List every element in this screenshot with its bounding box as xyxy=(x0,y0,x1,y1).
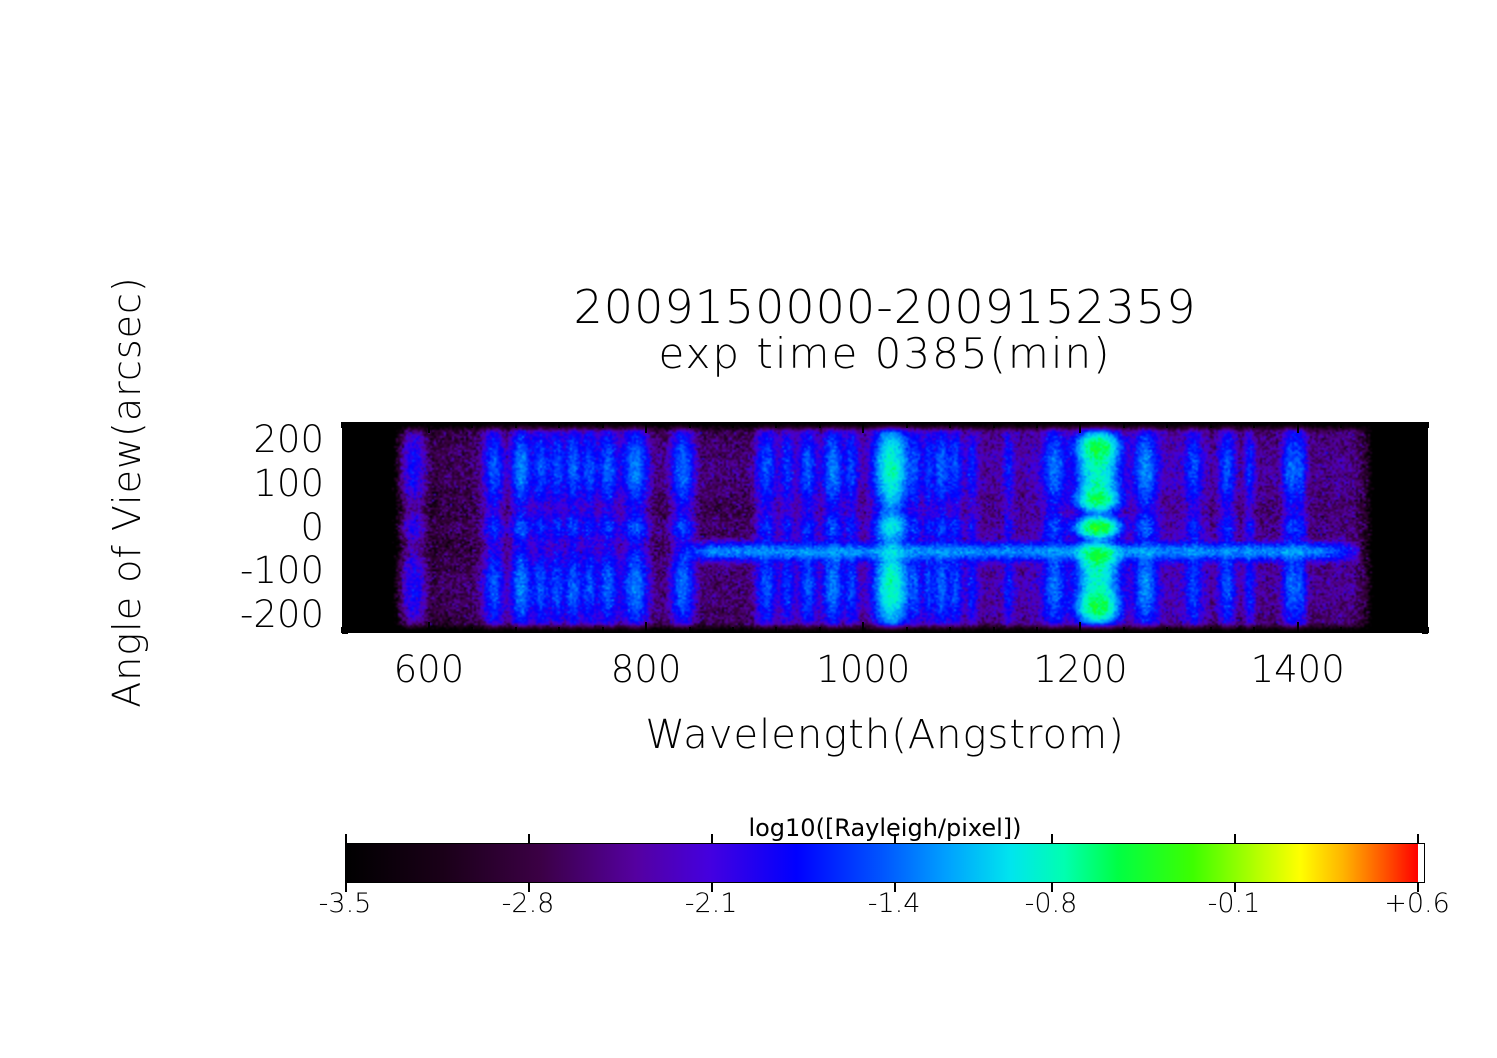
colorbar-tick-top xyxy=(711,834,713,843)
colorbar-tick-top xyxy=(1051,834,1053,843)
colorbar-tick-label: -1.4 xyxy=(824,888,964,919)
x-tick-label: 1200 xyxy=(990,651,1170,688)
y-tick-label: 200 xyxy=(194,421,324,458)
figure-root: 2009150000-2009152359 exp time 0385(min)… xyxy=(0,0,1497,1058)
x-tick-label: 600 xyxy=(339,651,519,688)
colorbar-tick-top xyxy=(1234,834,1236,843)
spectrogram-image xyxy=(342,422,1428,633)
y-tick-label: -200 xyxy=(194,596,324,633)
colorbar-tick-top xyxy=(1417,834,1419,843)
colorbar-tick-label: -0.1 xyxy=(1164,888,1304,919)
colorbar-tick-label: +0.6 xyxy=(1347,888,1487,919)
y-tick-label: 0 xyxy=(194,509,324,546)
colorbar-tick-top xyxy=(894,834,896,843)
colorbar-tick-label: -0.8 xyxy=(981,888,1121,919)
colorbar-overflow-white xyxy=(1418,844,1424,882)
colorbar-tick-top xyxy=(345,834,347,843)
title-line-exposure-time: exp time 0385(min) xyxy=(342,332,1428,377)
plot-title: 2009150000-2009152359 exp time 0385(min) xyxy=(342,283,1428,377)
colorbar xyxy=(345,843,1425,883)
colorbar-tick-label: -3.5 xyxy=(275,888,415,919)
colorbar-gradient xyxy=(346,844,1418,882)
colorbar-tick-label: -2.1 xyxy=(641,888,781,919)
colorbar-title: log10([Rayleigh/pixel]) xyxy=(345,814,1425,842)
title-line-observation-range: 2009150000-2009152359 xyxy=(342,283,1428,332)
colorbar-gradient-frame xyxy=(345,843,1425,883)
colorbar-tick-top xyxy=(528,834,530,843)
spectrogram-plot-area xyxy=(342,422,1428,633)
x-tick-label: 1000 xyxy=(773,651,953,688)
x-tick-label: 1400 xyxy=(1208,651,1388,688)
x-axis-label: Wavelength(Angstrom) xyxy=(342,712,1428,758)
y-tick-label: -100 xyxy=(194,552,324,589)
y-tick-label: 100 xyxy=(194,465,324,502)
colorbar-tick-label: -2.8 xyxy=(458,888,598,919)
x-tick-label: 800 xyxy=(556,651,736,688)
y-axis-label: Angle of View(arcsec) xyxy=(105,272,149,712)
